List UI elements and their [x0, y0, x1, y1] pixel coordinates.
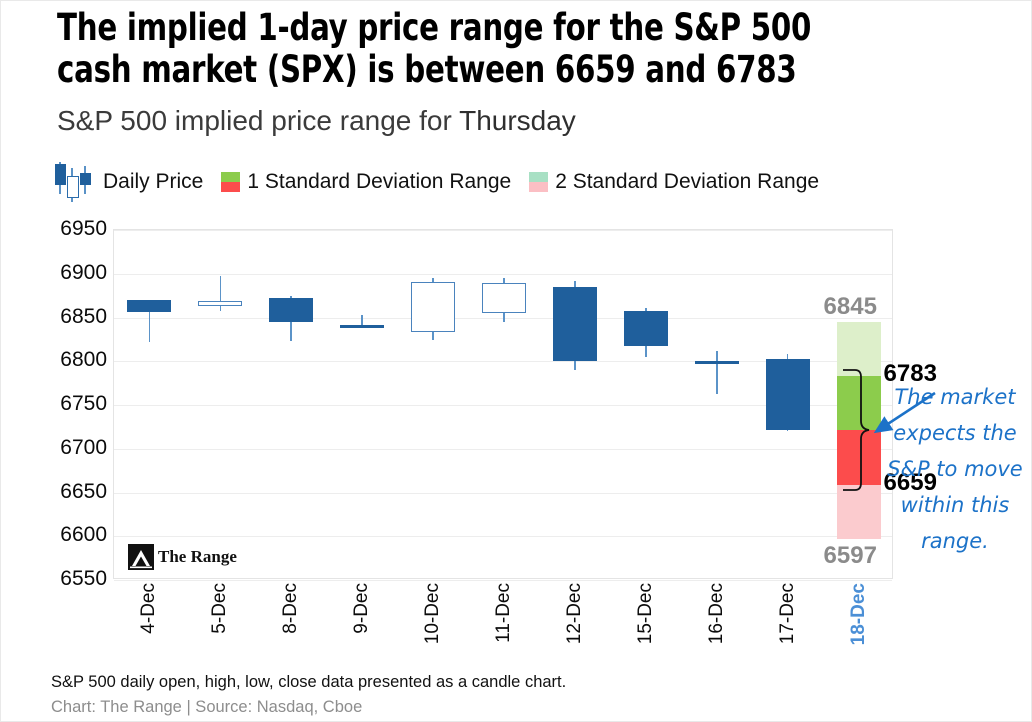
- watermark: The Range: [128, 544, 237, 570]
- x-axis-tick-18-Dec: 18-Dec: [848, 583, 870, 645]
- legend-label-1sd: 1 Standard Deviation Range: [247, 170, 511, 194]
- x-axis-tick-17-Dec: 17-Dec: [777, 583, 799, 644]
- plot-area: The Range: [113, 229, 893, 579]
- subtitle-day: Thursday: [459, 105, 576, 136]
- candle-10-Dec: [411, 278, 455, 340]
- candle-5-Dec: [198, 276, 242, 311]
- x-axis-tick-9-Dec: 9-Dec: [351, 583, 373, 634]
- label-upper-2sd: 6845: [824, 293, 877, 321]
- y-axis-tick: 6800: [60, 348, 107, 372]
- label-lower-2sd: 6597: [824, 542, 877, 570]
- x-axis-tick-12-Dec: 12-Dec: [564, 583, 586, 644]
- candle-wick: [716, 351, 718, 394]
- chart-canvas: The implied 1-day price range for the S&…: [0, 0, 1032, 722]
- candle-body: [553, 287, 597, 361]
- candle-body: [411, 282, 455, 332]
- range-logo-icon: [128, 544, 154, 570]
- subtitle-prefix: S&P 500 implied price range for: [57, 105, 459, 136]
- y-axis-tick: 6750: [60, 392, 107, 416]
- x-axis-tick-16-Dec: 16-Dec: [706, 583, 728, 644]
- x-axis-tick-15-Dec: 15-Dec: [635, 583, 657, 644]
- legend-label-2sd: 2 Standard Deviation Range: [555, 170, 819, 194]
- candle-16-Dec: [695, 351, 739, 394]
- x-axis-tick-4-Dec: 4-Dec: [138, 583, 160, 634]
- candle-15-Dec: [624, 308, 668, 357]
- gridline: [114, 274, 892, 275]
- y-axis-tick: 6850: [60, 305, 107, 329]
- chart-subtitle: S&P 500 implied price range for Thursday: [57, 105, 576, 137]
- candle-icon: [51, 160, 97, 204]
- footnote: S&P 500 daily open, high, low, close dat…: [51, 673, 566, 692]
- candle-11-Dec: [482, 278, 526, 322]
- candle-4-Dec: [127, 300, 171, 342]
- y-axis-labels: 695069006850680067506700665066006550: [41, 211, 107, 597]
- candle-12-Dec: [553, 281, 597, 370]
- legend-item-1sd[interactable]: 1 Standard Deviation Range: [221, 170, 511, 194]
- two-sd-swatch: [529, 172, 548, 192]
- y-axis-tick: 6950: [60, 217, 107, 241]
- annotation-text: The market expects the S&P to move withi…: [885, 379, 1025, 559]
- x-axis-labels: 4-Dec5-Dec8-Dec9-Dec10-Dec11-Dec12-Dec15…: [113, 583, 893, 669]
- candle-wick: [220, 276, 222, 311]
- candle-body: [624, 311, 668, 345]
- watermark-label: The Range: [158, 547, 237, 567]
- x-axis-tick-11-Dec: 11-Dec: [493, 583, 515, 643]
- page-title: The implied 1-day price range for the S&…: [57, 7, 875, 91]
- x-axis-tick-5-Dec: 5-Dec: [209, 583, 231, 634]
- y-axis-tick: 6550: [60, 567, 107, 591]
- candle-8-Dec: [269, 296, 313, 342]
- candle-body: [127, 300, 171, 312]
- candle-body: [198, 301, 242, 306]
- candle-9-Dec: [340, 315, 384, 328]
- candle-17-Dec: [766, 354, 810, 431]
- legend-label-daily-price: Daily Price: [103, 170, 203, 194]
- x-axis-tick-10-Dec: 10-Dec: [422, 583, 444, 644]
- y-axis-tick: 6900: [60, 261, 107, 285]
- y-axis-tick: 6600: [60, 523, 107, 547]
- legend-item-2sd[interactable]: 2 Standard Deviation Range: [529, 170, 819, 194]
- candle-body: [269, 298, 313, 322]
- x-axis-tick-8-Dec: 8-Dec: [280, 583, 302, 634]
- chart-credit: Chart: The Range | Source: Nasdaq, Cboe: [51, 698, 362, 717]
- candle-body: [695, 361, 739, 364]
- gridline: [114, 536, 892, 537]
- one-sd-swatch: [221, 172, 240, 192]
- y-axis-tick: 6650: [60, 480, 107, 504]
- legend-item-daily-price[interactable]: Daily Price: [51, 160, 203, 204]
- candle-body: [340, 325, 384, 328]
- gridline: [114, 449, 892, 450]
- candle-body: [482, 283, 526, 314]
- gridline: [114, 230, 892, 231]
- y-axis-tick: 6700: [60, 436, 107, 460]
- gridline: [114, 580, 892, 581]
- gridline: [114, 493, 892, 494]
- chart-legend: Daily Price 1 Standard Deviation Range 2…: [51, 159, 837, 205]
- candle-body: [766, 359, 810, 430]
